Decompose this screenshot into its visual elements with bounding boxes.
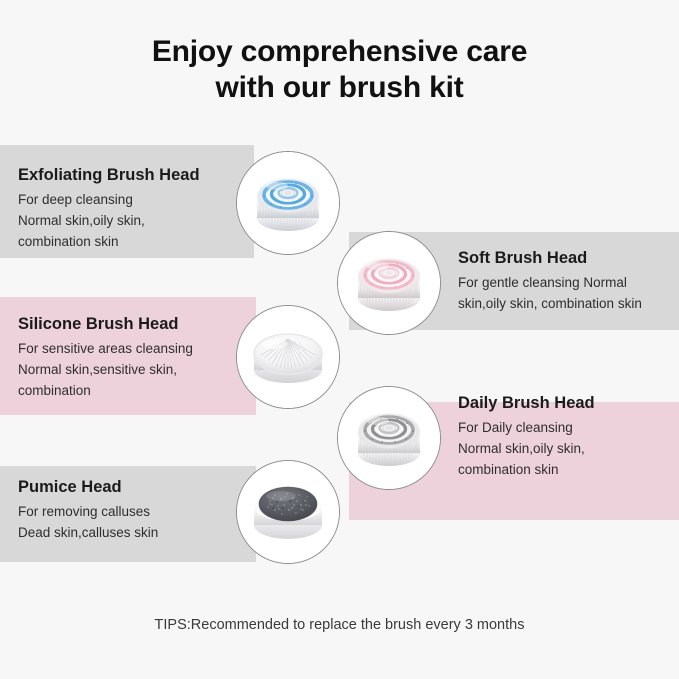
item-soft-heading: Soft Brush Head: [458, 247, 642, 269]
item-silicone-line-3: combination: [18, 380, 193, 401]
item-exfoliating-line-1: For deep cleansing: [18, 189, 200, 210]
item-daily-line-3: combination skin: [458, 459, 595, 480]
item-silicone-line-1: For sensitive areas cleansing: [18, 338, 193, 359]
item-soft-line-1: For gentle cleansing Normal: [458, 272, 642, 293]
product-infographic: Enjoy comprehensive care with our brush …: [0, 0, 679, 679]
item-soft-text: Soft Brush Head For gentle cleansing Nor…: [458, 247, 642, 314]
item-exfoliating-line-2: Normal skin,oily skin,: [18, 210, 200, 231]
item-daily-line-1: For Daily cleansing: [458, 417, 595, 438]
exfoliating-brush-head-photo: [236, 151, 340, 255]
pumice-head-photo: [236, 460, 340, 564]
item-daily-line-2: Normal skin,oily skin,: [458, 438, 595, 459]
item-silicone-text: Silicone Brush Head For sensitive areas …: [18, 313, 193, 401]
item-pumice-line-1: For removing calluses: [18, 501, 158, 522]
soft-brush-head-photo: [337, 231, 441, 335]
item-daily-text: Daily Brush Head For Daily cleansing Nor…: [458, 392, 595, 480]
item-silicone-line-2: Normal skin,sensitive skin,: [18, 359, 193, 380]
poster-title-line-1: Enjoy comprehensive care: [152, 35, 527, 68]
silicone-brush-head-photo: [236, 305, 340, 409]
item-pumice-text: Pumice Head For removing calluses Dead s…: [18, 476, 158, 543]
item-soft-line-2: skin,oily skin, combination skin: [458, 293, 642, 314]
tips-footer: TIPS:Recommended to replace the brush ev…: [0, 617, 679, 633]
daily-brush-head-photo: [337, 386, 441, 490]
item-daily-heading: Daily Brush Head: [458, 392, 595, 414]
item-silicone-heading: Silicone Brush Head: [18, 313, 193, 335]
poster-title: Enjoy comprehensive care with our brush …: [0, 34, 679, 106]
poster-title-line-2: with our brush kit: [0, 70, 679, 106]
item-exfoliating-heading: Exfoliating Brush Head: [18, 164, 200, 186]
item-exfoliating-line-3: combination skin: [18, 231, 200, 252]
item-exfoliating-text: Exfoliating Brush Head For deep cleansin…: [18, 164, 200, 252]
item-pumice-line-2: Dead skin,calluses skin: [18, 522, 158, 543]
item-pumice-heading: Pumice Head: [18, 476, 158, 498]
